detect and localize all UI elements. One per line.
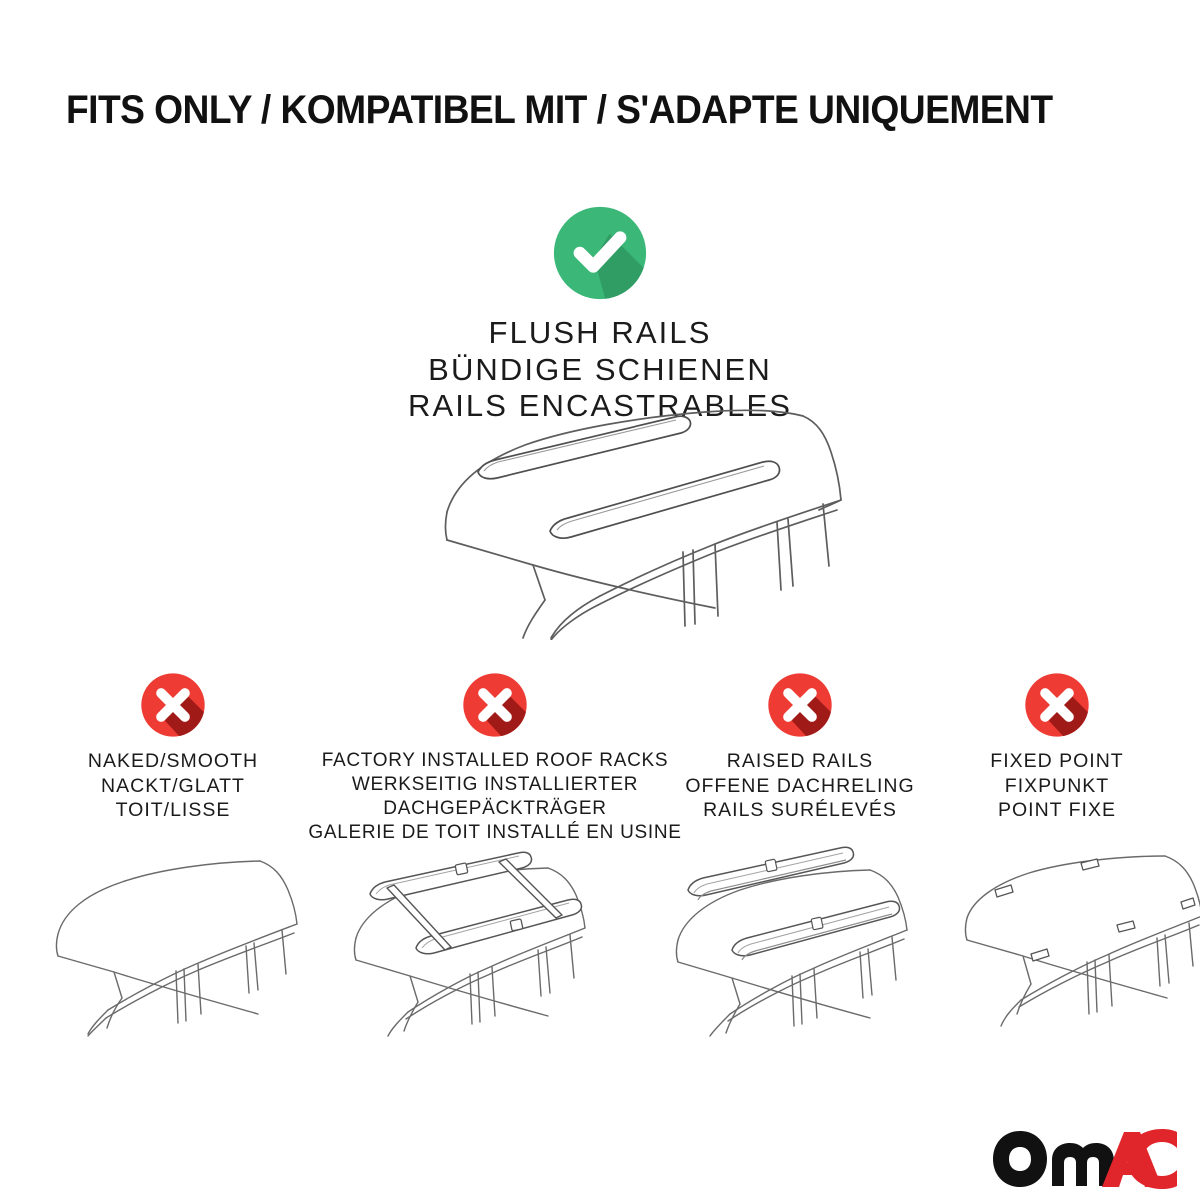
incompatible-item-factory-installed-roof-racks: FACTORY INSTALLED ROOF RACKS WERKSEITIG …	[305, 672, 685, 845]
label-fr: TOIT/LISSE	[42, 798, 304, 823]
incompatible-labels: NAKED/SMOOTH NACKT/GLATT TOIT/LISSE	[42, 749, 304, 823]
incompatible-item-raised-rails: RAISED RAILS OFFENE DACHRELING RAILS SUR…	[660, 672, 940, 823]
x-circle-icon	[1024, 672, 1090, 738]
label-de: NACKT/GLATT	[42, 774, 304, 799]
label-de: FIXPUNKT	[942, 774, 1172, 799]
x-circle-icon	[140, 672, 206, 738]
label-en: RAISED RAILS	[660, 749, 940, 774]
label-en: FACTORY INSTALLED ROOF RACKS	[305, 749, 685, 773]
label-en: FIXED POINT	[942, 749, 1172, 774]
label-en: NAKED/SMOOTH	[42, 749, 304, 774]
car-roof-with-factory-crossbars-illustration	[312, 838, 612, 1038]
compatible-label-de: BÜNDIGE SCHIENEN	[0, 352, 1200, 389]
x-circle-icon	[462, 672, 528, 738]
label-de: OFFENE DACHRELING	[660, 774, 940, 799]
label-fr: POINT FIXE	[942, 798, 1172, 823]
incompatible-section: NAKED/SMOOTH NACKT/GLATT TOIT/LISSE FACT…	[0, 672, 1200, 852]
page-title: FITS ONLY / KOMPATIBEL MIT / S'ADAPTE UN…	[66, 88, 1061, 132]
car-roof-with-fixed-points-illustration	[935, 838, 1200, 1038]
car-roof-with-flush-rails-illustration	[385, 400, 845, 640]
label-fr: RAILS SURÉLEVÉS	[660, 798, 940, 823]
label-de-1: WERKSEITIG INSTALLIERTER	[305, 773, 685, 797]
incompatible-illustrations	[0, 838, 1200, 1038]
car-roof-naked-smooth-illustration	[18, 838, 318, 1038]
label-de-2: DACHGEPÄCKTRÄGER	[305, 797, 685, 821]
x-circle-icon	[767, 672, 833, 738]
incompatible-labels: FACTORY INSTALLED ROOF RACKS WERKSEITIG …	[305, 749, 685, 845]
incompatible-labels: FIXED POINT FIXPUNKT POINT FIXE	[942, 749, 1172, 823]
incompatible-item-naked-smooth: NAKED/SMOOTH NACKT/GLATT TOIT/LISSE	[42, 672, 304, 823]
infographic-page: FITS ONLY / KOMPATIBEL MIT / S'ADAPTE UN…	[0, 0, 1200, 1200]
incompatible-labels: RAISED RAILS OFFENE DACHRELING RAILS SUR…	[660, 749, 940, 823]
check-circle-icon	[552, 205, 648, 301]
car-roof-with-raised-rails-illustration	[632, 838, 932, 1038]
incompatible-item-fixed-point: FIXED POINT FIXPUNKT POINT FIXE	[942, 672, 1172, 823]
compatible-section: FLUSH RAILS BÜNDIGE SCHIENEN RAILS ENCAS…	[0, 205, 1200, 425]
omac-logo	[990, 1128, 1180, 1190]
compatible-label-en: FLUSH RAILS	[0, 315, 1200, 352]
